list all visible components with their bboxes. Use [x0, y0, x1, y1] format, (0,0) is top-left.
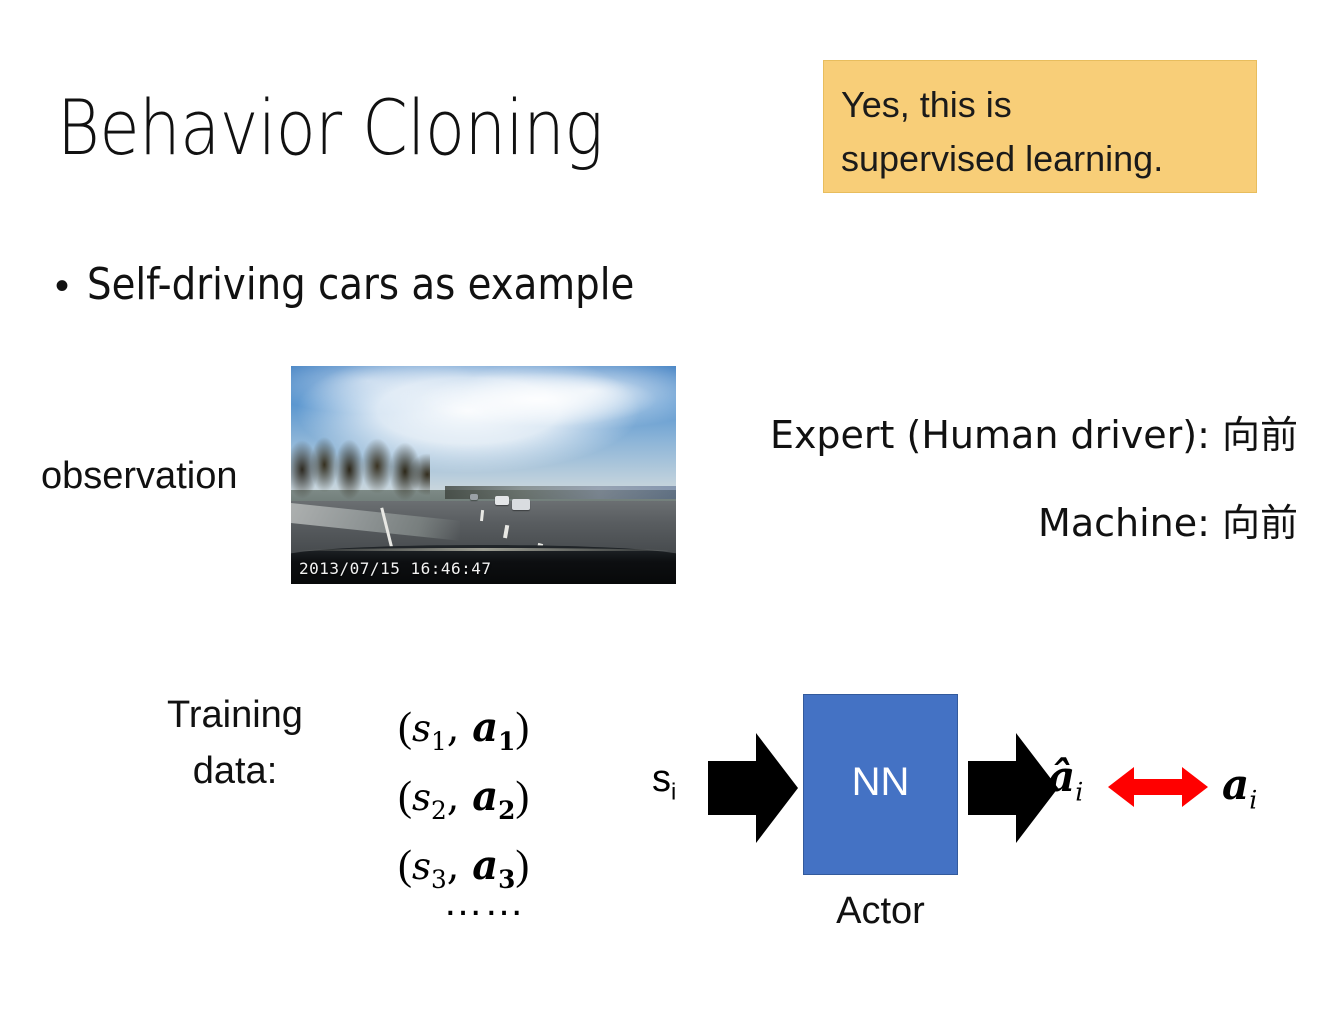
callout-line-1: Yes, this is [841, 83, 1012, 127]
action-index: 2 [498, 796, 515, 825]
paren-close: ) [515, 774, 529, 820]
state-input-subscript: i [671, 779, 676, 805]
photo-vehicle [512, 499, 530, 510]
pair-comma: , [447, 774, 472, 820]
predicted-action-symbol: â [1048, 752, 1075, 801]
machine-action-label: Machine: 向前 [1038, 499, 1298, 547]
training-data-label: Training data: [140, 687, 330, 799]
bullet-item-label: Self-driving cars as example [87, 258, 634, 312]
dashcam-timestamp: 2013/07/15 16:46:47 [299, 559, 492, 578]
paren-close: ) [515, 705, 529, 751]
photo-treeline [291, 431, 430, 501]
observation-label: observation [41, 452, 237, 500]
neural-network-box: NN [803, 694, 958, 875]
state-input-label: si [652, 757, 676, 814]
paren-open: ( [398, 774, 412, 820]
state-symbol: s [412, 845, 431, 888]
dashcam-photo: 2013/07/15 16:46:47 [291, 366, 676, 584]
photo-clouds [399, 368, 676, 430]
state-symbol: s [412, 776, 431, 819]
photo-horizon-structures [445, 486, 676, 499]
photo-hood-gleam [299, 548, 669, 551]
target-action-label: ai [1222, 760, 1257, 825]
state-symbol: s [412, 707, 431, 750]
training-pair-1: (s1, a1) [398, 700, 588, 769]
callout-box: Yes, this is supervised learning. [823, 60, 1257, 193]
page-title: Behavior Cloning [57, 82, 603, 174]
training-data-pairs: (s1, a1) (s2, a2) (s3, a3) [398, 700, 588, 907]
predicted-action-label: âi [1048, 752, 1083, 817]
paren-open: ( [398, 843, 412, 889]
neural-network-label: NN [804, 758, 957, 806]
bullet-marker-icon: • [55, 266, 69, 306]
output-flow-arrow-icon [968, 733, 1058, 843]
training-data-ellipsis: …… [443, 880, 525, 925]
actor-label: Actor [803, 888, 958, 934]
training-data-label-line1: Training [140, 687, 330, 743]
action-symbol: a [472, 704, 498, 751]
callout-line-2: supervised learning. [841, 137, 1163, 181]
photo-vehicle [470, 494, 478, 500]
training-pair-2: (s2, a2) [398, 769, 588, 838]
target-action-subscript: i [1249, 785, 1257, 814]
paren-open: ( [398, 705, 412, 751]
training-data-label-line2: data: [140, 743, 330, 799]
predicted-action-subscript: i [1075, 777, 1083, 806]
state-index: 1 [431, 727, 447, 756]
slide-canvas: Behavior Cloning Yes, this is supervised… [0, 0, 1330, 1014]
pair-comma: , [447, 705, 472, 751]
input-flow-arrow-icon [708, 733, 798, 843]
comparison-double-arrow-icon [1108, 764, 1208, 810]
state-index: 2 [431, 796, 447, 825]
action-symbol: a [472, 773, 498, 820]
action-index: 1 [498, 727, 515, 756]
bullet-item: • Self-driving cars as example [55, 258, 709, 312]
expert-action-label: Expert (Human driver): 向前 [770, 411, 1298, 459]
photo-lane-marking [480, 510, 484, 521]
photo-vehicle [495, 496, 509, 505]
state-input-symbol: s [652, 758, 671, 800]
target-action-symbol: a [1222, 760, 1249, 809]
